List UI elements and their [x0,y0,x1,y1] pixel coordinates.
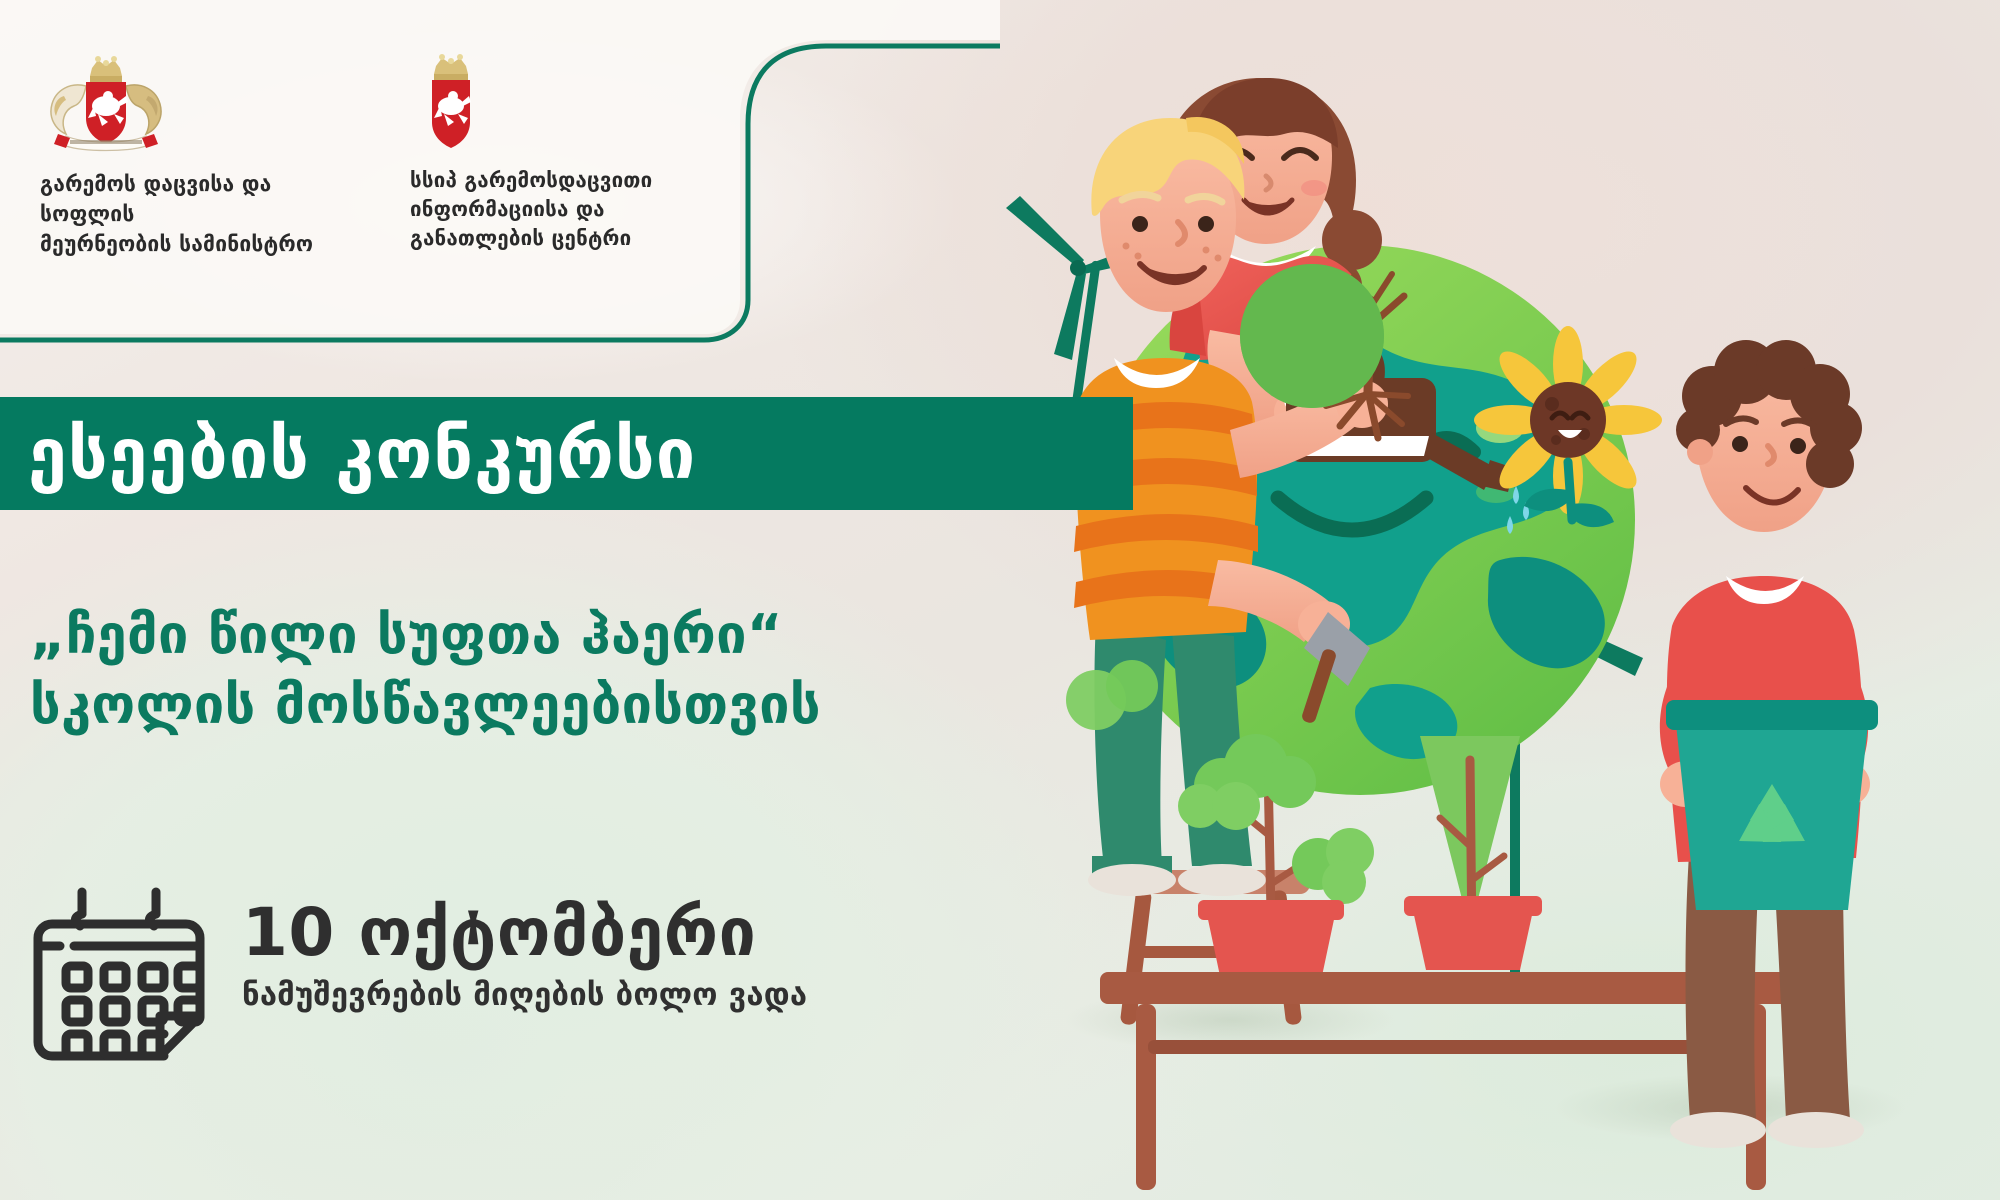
deadline-texts: 10 ოქტომბერი ნამუშევრების მიღების ბოლო ვ… [242,880,807,1013]
deadline-note: ნამუშევრების მიღების ბოლო ვადა [242,977,807,1013]
poster-root: გარემოს დაცვისა და სოფლის მეურნეობის სამ… [0,0,2000,1200]
recycling-bin-icon [1666,700,1878,910]
logo-row: გარემოს დაცვისა და სოფლის მეურნეობის სამ… [0,52,900,259]
ministry-logo-caption: გარემოს დაცვისა და სოფლის მეურნეობის სამ… [40,170,360,259]
center-logo-caption: სსიპ გარემოსდაცვითი ინფორმაციისა და განა… [410,166,740,253]
title-banner: ესეების კონკურსი [0,397,1133,510]
center-logo-block: სსიპ გარემოსდაცვითი ინფორმაციისა და განა… [410,52,740,259]
georgia-coat-of-arms-icon [40,52,172,156]
georgia-shield-crest-icon [420,52,482,156]
deadline-date: 10 ოქტომბერი [242,898,807,967]
header-panel: გარემოს დაცვისა და სოფლის მეურნეობის სამ… [0,0,1000,360]
deadline-block: 10 ოქტომბერი ნამუშევრების მიღების ბოლო ვ… [30,880,807,1068]
subtitle: „ჩემი წილი სუფთა ჰაერი“ სკოლის მოსწავლეე… [30,600,1210,740]
calendar-icon [30,886,208,1068]
ministry-logo-block: გარემოს დაცვისა და სოფლის მეურნეობის სამ… [0,52,360,259]
page-title: ესეების კონკურსი [0,419,696,489]
